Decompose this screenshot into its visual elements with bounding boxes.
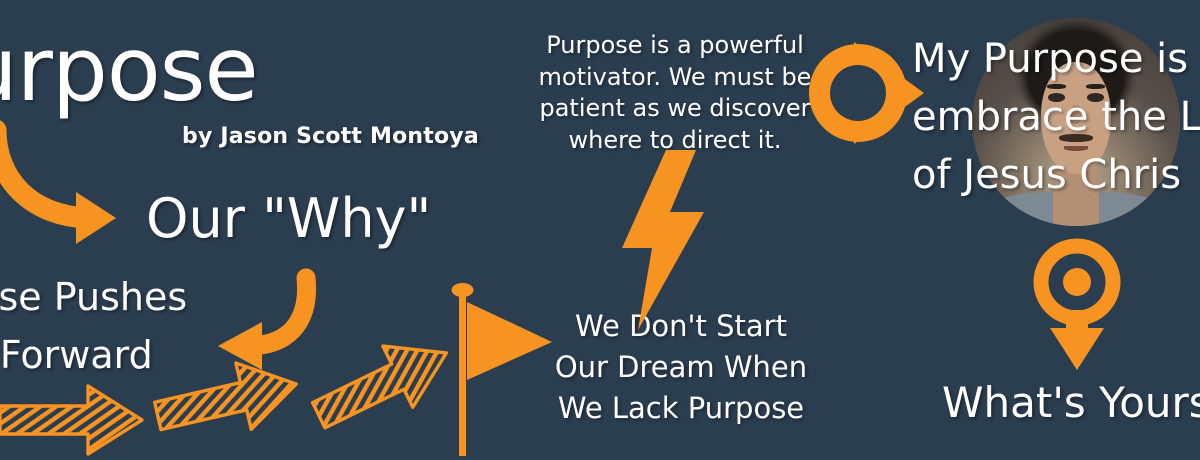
dream-line-3: We Lack Purpose <box>536 388 826 429</box>
author-byline: by Jason Scott Montoya <box>182 126 479 148</box>
my-purpose-line-2: embrace the L <box>912 88 1200 146</box>
my-purpose-line-3: of Jesus Chris <box>912 146 1200 204</box>
our-why-heading: Our "Why" <box>146 192 431 246</box>
my-purpose-line-1: My Purpose is <box>912 30 1200 88</box>
pennant-flag-icon <box>448 280 558 458</box>
target-down-arrow-icon <box>1022 236 1132 372</box>
curved-arrow-down-right-icon <box>0 120 124 245</box>
curved-arrow-left-icon <box>206 266 326 371</box>
infographic-banner: urpose by Jason Scott Montoya Our "Why" … <box>0 0 1200 460</box>
my-purpose-statement: My Purpose is embrace the L of Jesus Chr… <box>912 30 1200 204</box>
hatched-arrow-icon <box>0 380 146 460</box>
center-paragraph: Purpose is a powerful motivator. We must… <box>530 30 820 157</box>
lightning-bolt-icon <box>608 150 718 330</box>
dream-line-2: Our Dream When <box>536 347 826 388</box>
page-title: urpose <box>0 26 258 114</box>
purpose-pushes-line-2: s Forward <box>0 336 153 374</box>
ring-arrow-right-icon <box>806 34 928 152</box>
purpose-pushes-line-1: oose Pushes <box>0 278 187 316</box>
whats-yours-text: What's Yours <box>942 382 1200 424</box>
